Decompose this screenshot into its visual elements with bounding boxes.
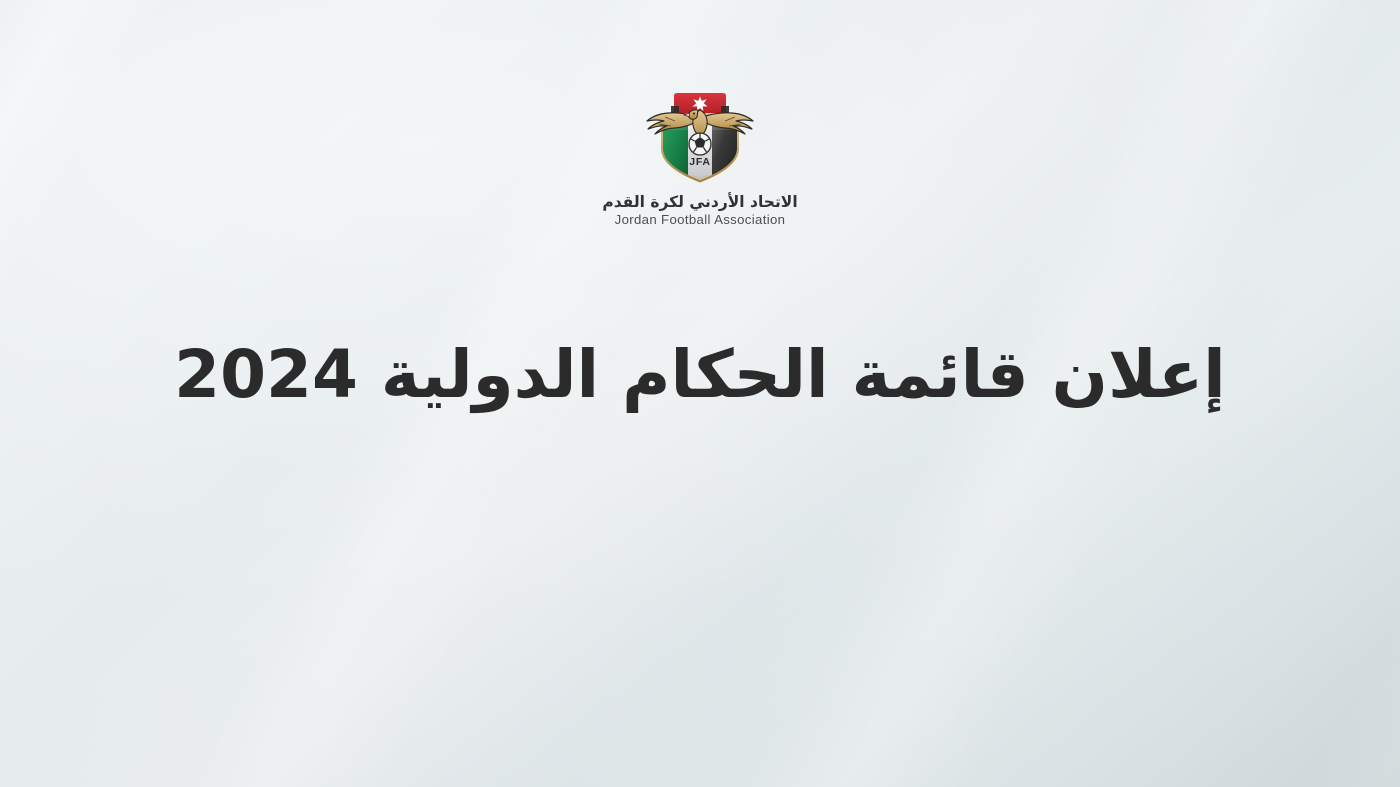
soccer-ball-icon xyxy=(689,133,711,155)
wordmark-english: Jordan Football Association xyxy=(602,213,797,227)
headline-container: إعلان قائمة الحكام الدولية 2024 xyxy=(0,336,1400,414)
announcement-slide: JFA الاتحاد الأردني لكرة القدم Jordan Fo… xyxy=(0,0,1400,787)
wordmark-arabic: الاتحاد الأردني لكرة القدم xyxy=(602,194,797,210)
jfa-wordmark: الاتحاد الأردني لكرة القدم Jordan Footba… xyxy=(602,194,797,227)
jfa-crest-icon: JFA xyxy=(642,82,758,186)
jfa-logo-block: JFA الاتحاد الأردني لكرة القدم Jordan Fo… xyxy=(0,82,1400,227)
page-title: إعلان قائمة الحكام الدولية 2024 xyxy=(174,336,1226,414)
crest-jfa-text: JFA xyxy=(689,156,711,168)
